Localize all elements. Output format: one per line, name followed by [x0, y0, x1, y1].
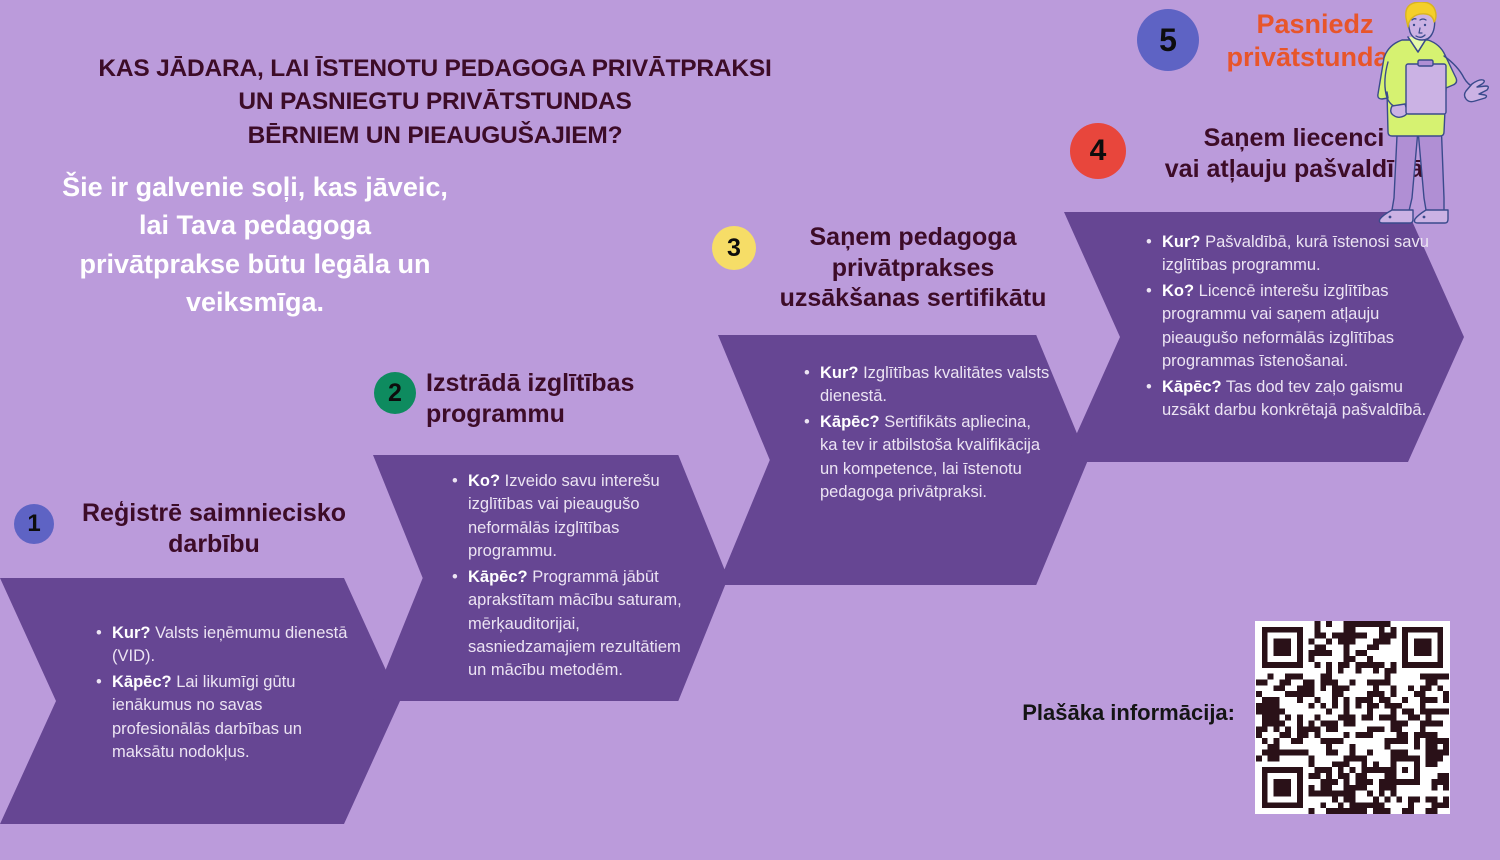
step-3-header: 3 Saņem pedagoga privātprakses uzsākšana…	[712, 222, 1060, 314]
list-item: Kur? Valsts ieņēmumu dienestā (VID).	[112, 622, 358, 669]
point-label: Kāpēc?	[468, 568, 528, 586]
step-1-badge: 1	[14, 504, 54, 544]
list-item: Kāpēc? Sertifikāts apliecina, ka tev ir …	[820, 411, 1050, 505]
step-4-badge: 4	[1070, 123, 1126, 179]
step-1-title: Reģistrē saimniecisko darbību	[64, 498, 364, 559]
more-info-label: Plašāka informācija:	[975, 700, 1235, 726]
step-3-title: Saņem pedagoga privātprakses uzsākšanas …	[766, 222, 1060, 314]
list-item: Ko? Licencē interešu izglītības programm…	[1162, 280, 1430, 374]
point-label: Kāpēc?	[1162, 378, 1222, 396]
step-5-badge: 5	[1137, 9, 1199, 71]
qr-code[interactable]	[1255, 621, 1450, 814]
list-item: Kur? Izglītības kvalitātes valsts dienes…	[820, 362, 1050, 409]
point-text: Pašvaldībā, kurā īstenosi savu izglītība…	[1162, 233, 1429, 274]
point-label: Kāpēc?	[820, 413, 880, 431]
point-label: Kur?	[112, 624, 151, 642]
step-2-header: 2 Izstrādā izglītības programmu	[374, 368, 704, 429]
point-label: Ko?	[468, 472, 500, 490]
page-title: KAS JĀDARA, LAI ĪSTENOTU PEDAGOGA PRIVĀT…	[60, 52, 810, 152]
list-item: Kāpēc? Lai likumīgi gūtu ienākumus no sa…	[112, 671, 358, 765]
step-1-points: Kur? Valsts ieņēmumu dienestā (VID). Kāp…	[92, 622, 358, 767]
point-label: Ko?	[1162, 282, 1194, 300]
step-3-badge: 3	[712, 226, 756, 270]
point-label: Kur?	[820, 364, 859, 382]
point-label: Kāpēc?	[112, 673, 172, 691]
step-3-points: Kur? Izglītības kvalitātes valsts dienes…	[800, 362, 1050, 507]
teacher-illustration	[1368, 2, 1500, 230]
list-item: Kāpēc? Programmā jābūt aprakstītam mācīb…	[468, 566, 700, 683]
list-item: Kāpēc? Tas dod tev zaļo gaismu uzsākt da…	[1162, 376, 1430, 423]
step-2-title: Izstrādā izglītības programmu	[426, 368, 701, 429]
step-2-badge: 2	[374, 372, 416, 414]
step-2-points: Ko? Izveido savu interešu izglītības vai…	[448, 470, 700, 685]
list-item: Kur? Pašvaldībā, kurā īstenosi savu izgl…	[1162, 231, 1430, 278]
step-4-points: Kur? Pašvaldībā, kurā īstenosi savu izgl…	[1142, 231, 1430, 424]
point-label: Kur?	[1162, 233, 1201, 251]
list-item: Ko? Izveido savu interešu izglītības vai…	[468, 470, 700, 564]
point-text: Licencē interešu izglītības programmu va…	[1162, 282, 1394, 370]
page-subtitle: Šie ir galvenie soļi, kas jāveic, lai Ta…	[20, 168, 490, 321]
step-1-header: 1 Reģistrē saimniecisko darbību	[14, 498, 366, 559]
infographic-canvas: KAS JĀDARA, LAI ĪSTENOTU PEDAGOGA PRIVĀT…	[0, 0, 1500, 860]
